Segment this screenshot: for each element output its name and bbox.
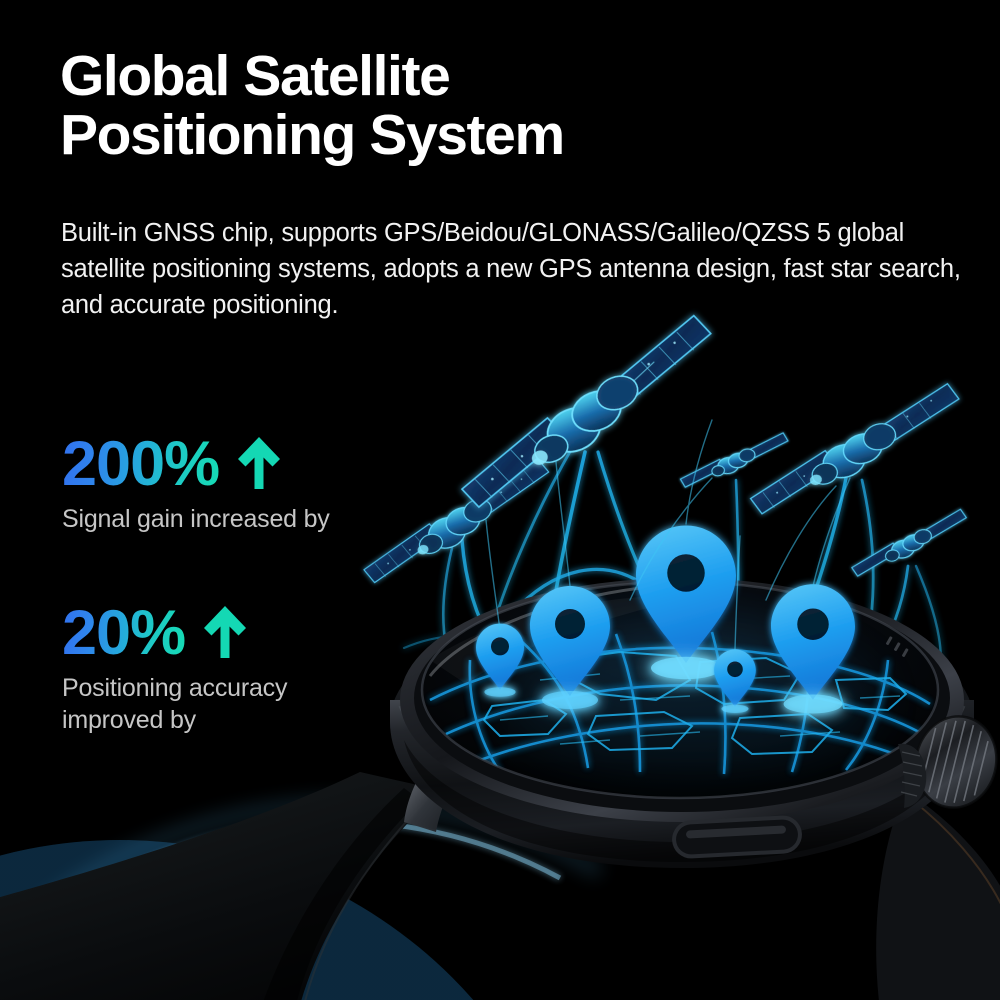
stat-value: 20% [62,602,185,665]
up-arrow-icon [202,604,248,660]
stat-signal-gain: 200% Signal gain increased by [62,433,330,535]
up-arrow-icon [236,435,282,491]
stat-value-row: 20% [62,602,287,665]
page-title: Global Satellite Positioning System [60,47,564,166]
stat-value-row: 200% [62,433,330,496]
stat-label: Signal gain increased by [62,503,330,535]
stat-positioning-accuracy: 20% Positioning accuracy improved by [62,602,287,736]
stat-label: Positioning accuracy improved by [62,672,287,736]
watch-side-button [671,815,803,860]
stat-value: 200% [62,433,219,496]
page-description: Built-in GNSS chip, supports GPS/Beidou/… [61,215,986,324]
